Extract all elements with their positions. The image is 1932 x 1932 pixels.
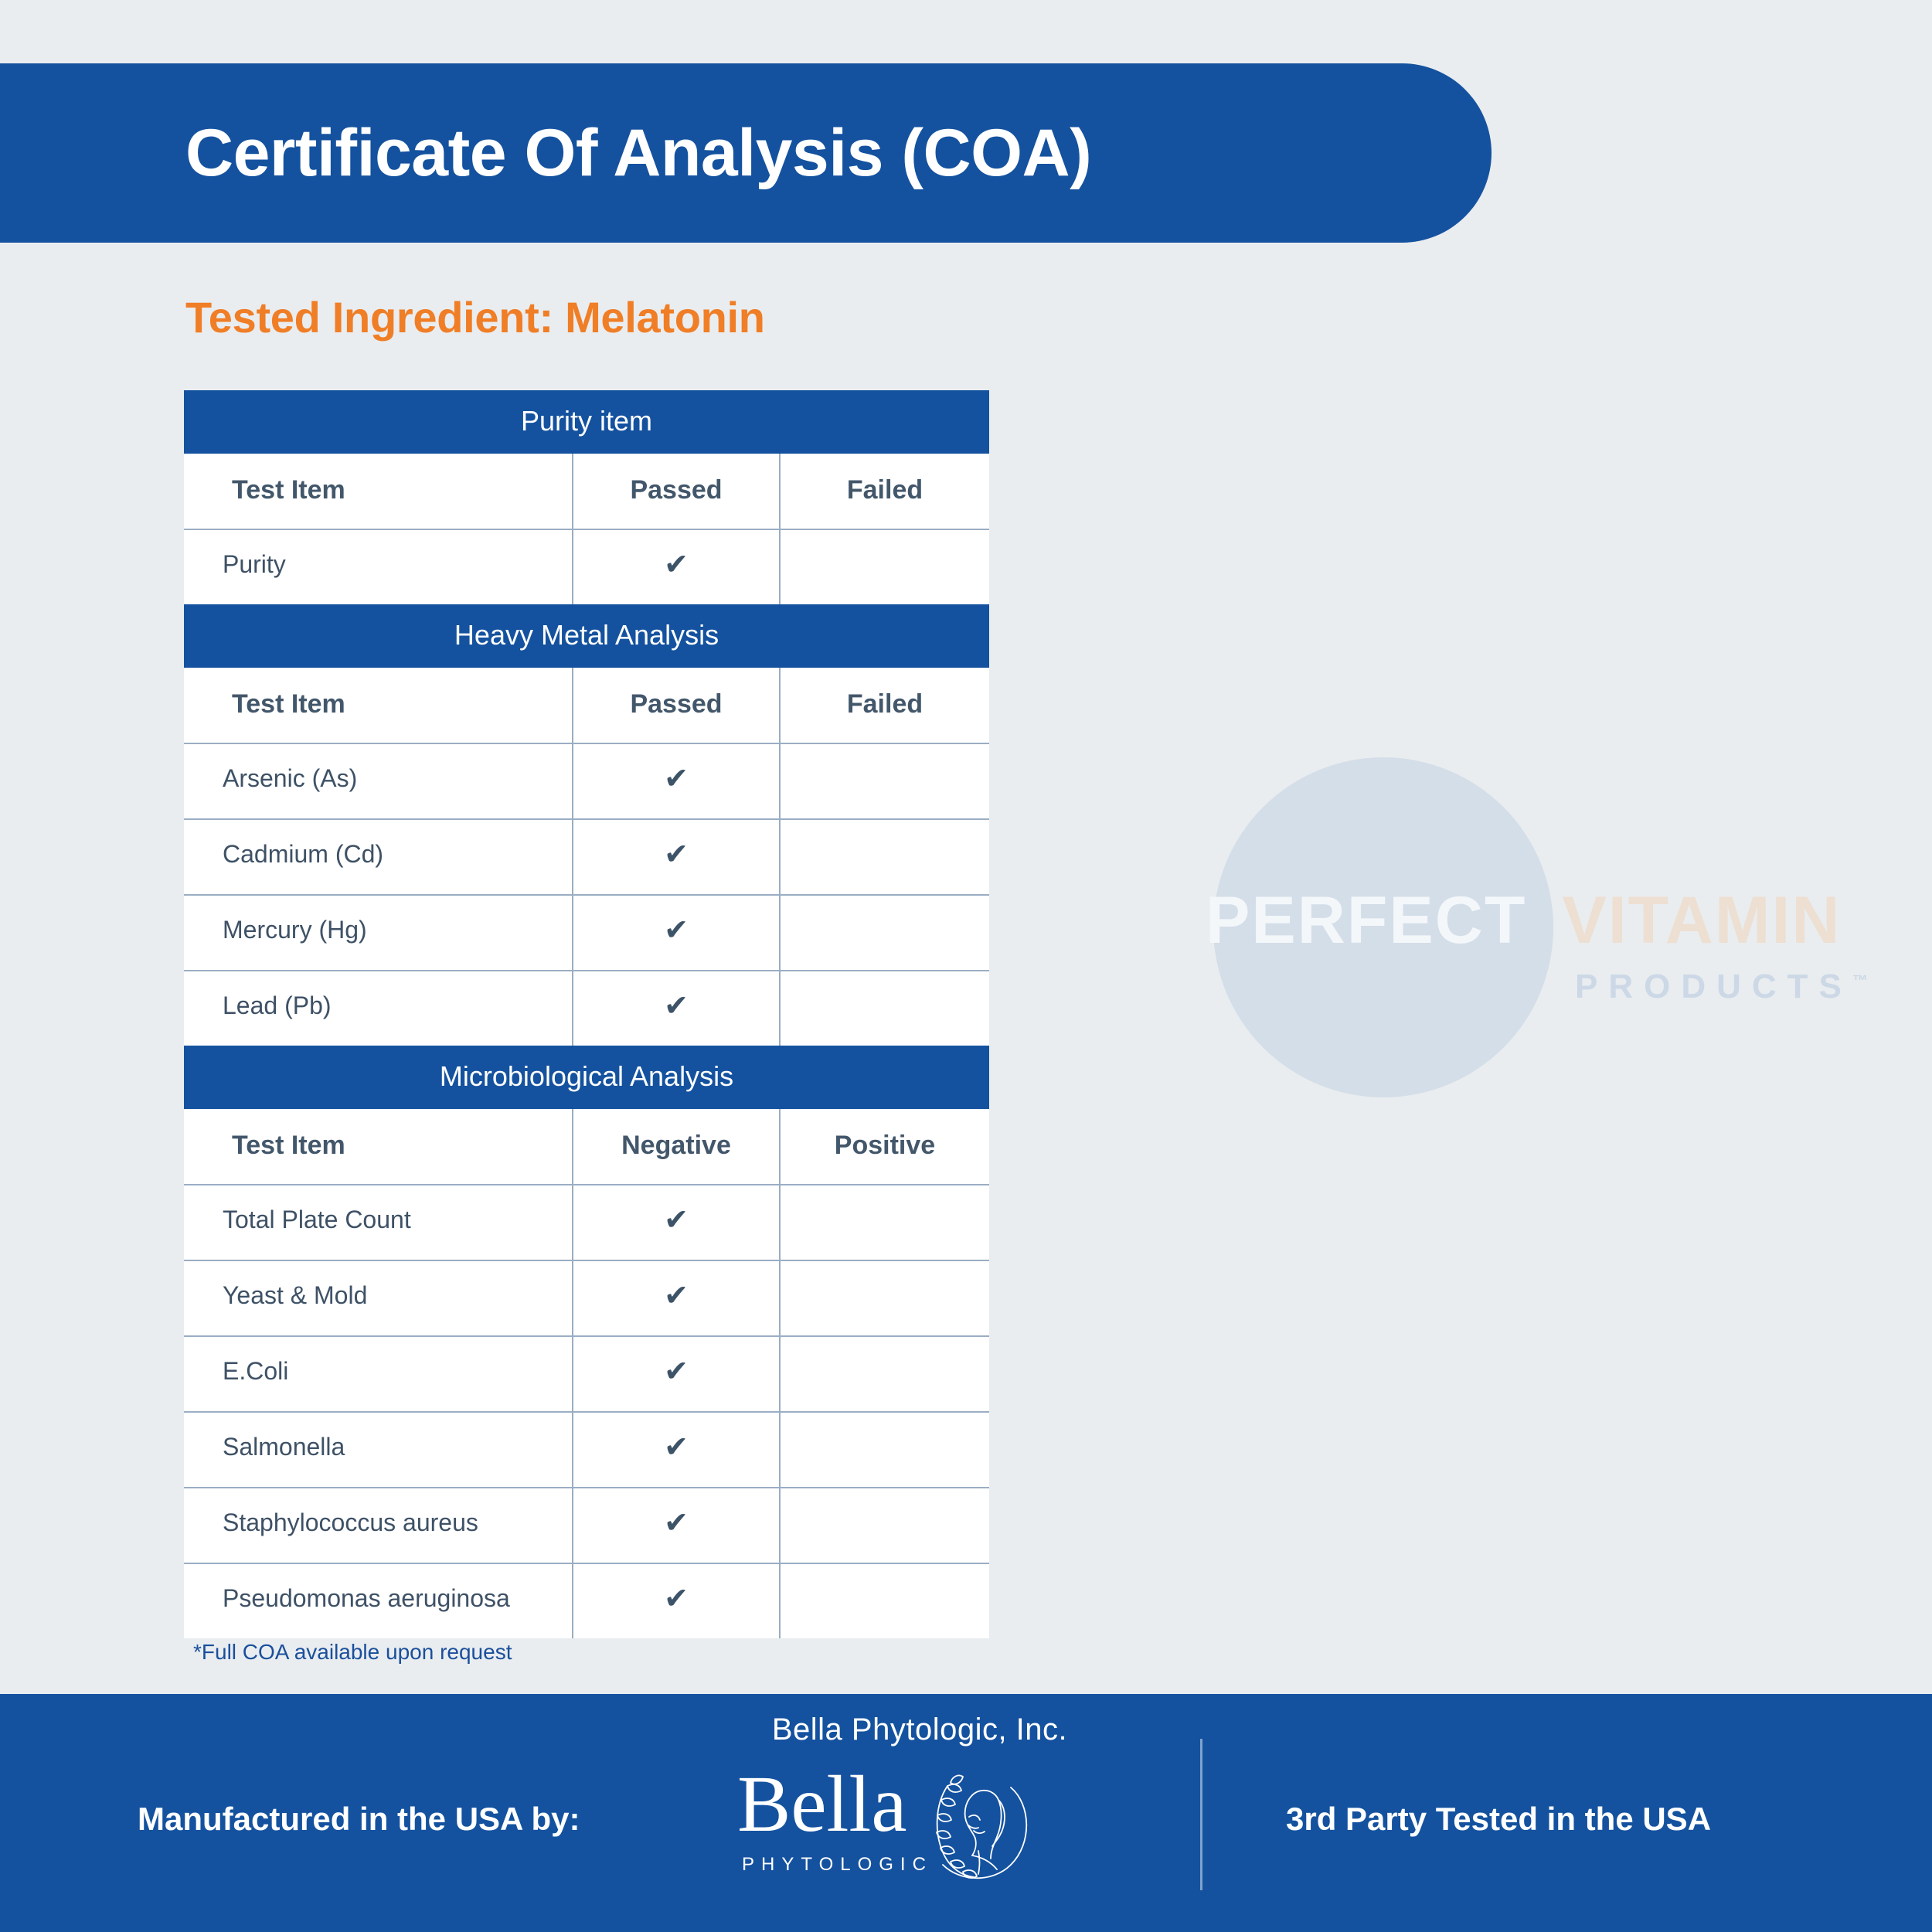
result-positive-cell	[779, 1185, 989, 1260]
column-header-positive: Positive	[779, 1109, 989, 1184]
bella-logo: Bella PHYTOLOGIC	[719, 1758, 1121, 1897]
result-passed-cell: ✔	[572, 896, 779, 970]
table-row: Arsenic (As) ✔	[184, 743, 989, 818]
table-row: Cadmium (Cd) ✔	[184, 818, 989, 894]
column-header-test-item: Test Item	[184, 1109, 572, 1184]
check-icon: ✔	[573, 1509, 779, 1538]
result-negative-cell: ✔	[572, 1488, 779, 1563]
result-negative-cell: ✔	[572, 1564, 779, 1638]
watermark-wordmark: PERFECT VITAMIN	[1206, 883, 1901, 959]
check-icon: ✔	[573, 1433, 779, 1462]
tested-ingredient-label: Tested Ingredient: Melatonin	[185, 292, 765, 342]
check-icon: ✔	[573, 1281, 779, 1311]
woman-with-wreath-icon	[918, 1760, 1049, 1891]
result-passed-cell: ✔	[572, 744, 779, 818]
result-positive-cell	[779, 1488, 989, 1563]
column-header-test-item: Test Item	[184, 454, 572, 529]
section-header-heavy-metal: Heavy Metal Analysis	[184, 604, 989, 668]
watermark-word-products: PRODUCTS™	[1575, 968, 1868, 1006]
result-passed-cell: ✔	[572, 530, 779, 604]
result-failed-cell	[779, 896, 989, 970]
result-negative-cell: ✔	[572, 1337, 779, 1411]
test-item-name: Arsenic (As)	[184, 744, 572, 818]
check-icon: ✔	[573, 992, 779, 1021]
test-item-name: E.Coli	[184, 1337, 572, 1411]
column-header-passed: Passed	[572, 454, 779, 529]
phytologic-subtext: PHYTOLOGIC	[742, 1854, 933, 1876]
result-negative-cell: ✔	[572, 1185, 779, 1260]
result-positive-cell	[779, 1337, 989, 1411]
test-item-name: Staphylococcus aureus	[184, 1488, 572, 1563]
test-item-name: Mercury (Hg)	[184, 896, 572, 970]
table-row: Salmonella ✔	[184, 1411, 989, 1487]
result-positive-cell	[779, 1261, 989, 1335]
test-item-name: Yeast & Mold	[184, 1261, 572, 1335]
result-failed-cell	[779, 820, 989, 894]
check-icon: ✔	[573, 840, 779, 869]
section-header-microbiological: Microbiological Analysis	[184, 1046, 989, 1109]
check-icon: ✔	[573, 1357, 779, 1386]
column-header-negative: Negative	[572, 1109, 779, 1184]
column-header-failed: Failed	[779, 454, 989, 529]
watermark-products-text: PRODUCTS	[1575, 968, 1852, 1005]
result-negative-cell: ✔	[572, 1413, 779, 1487]
check-icon: ✔	[573, 764, 779, 794]
test-item-name: Cadmium (Cd)	[184, 820, 572, 894]
test-item-name: Total Plate Count	[184, 1185, 572, 1260]
footer-vertical-divider	[1200, 1739, 1202, 1890]
column-header-passed: Passed	[572, 668, 779, 743]
result-positive-cell	[779, 1564, 989, 1638]
table-row: Staphylococcus aureus ✔	[184, 1487, 989, 1563]
trademark-icon: ™	[1852, 972, 1868, 989]
company-name: Bella Phytologic, Inc.	[719, 1713, 1121, 1747]
result-failed-cell	[779, 744, 989, 818]
perfect-vitamin-products-watermark: PERFECT VITAMIN PRODUCTS™	[1206, 742, 1901, 1121]
result-positive-cell	[779, 1413, 989, 1487]
check-icon: ✔	[573, 916, 779, 945]
bella-phytologic-brand-block: Bella Phytologic, Inc. Bella PHYTOLOGIC	[719, 1713, 1121, 1897]
watermark-circle-shape	[1213, 757, 1553, 1097]
column-header-row: Test Item Passed Failed	[184, 668, 989, 743]
table-row: Yeast & Mold ✔	[184, 1260, 989, 1335]
table-row: Purity ✔	[184, 529, 989, 604]
section-header-purity: Purity item	[184, 390, 989, 454]
result-passed-cell: ✔	[572, 971, 779, 1046]
column-header-failed: Failed	[779, 668, 989, 743]
column-header-row: Test Item Negative Positive	[184, 1109, 989, 1184]
third-party-tested-label: 3rd Party Tested in the USA	[1286, 1801, 1711, 1838]
test-item-name: Purity	[184, 530, 572, 604]
check-icon: ✔	[573, 1584, 779, 1614]
result-passed-cell: ✔	[572, 820, 779, 894]
check-icon: ✔	[573, 550, 779, 580]
watermark-word-perfect: PERFECT	[1206, 883, 1526, 959]
table-row: Lead (Pb) ✔	[184, 970, 989, 1046]
footer-bar: Manufactured in the USA by: Bella Phytol…	[0, 1694, 1932, 1932]
coa-results-table: Purity item Test Item Passed Failed Puri…	[184, 390, 989, 1638]
table-row: Total Plate Count ✔	[184, 1184, 989, 1260]
table-row: E.Coli ✔	[184, 1335, 989, 1411]
column-header-test-item: Test Item	[184, 668, 572, 743]
result-failed-cell	[779, 530, 989, 604]
result-failed-cell	[779, 971, 989, 1046]
check-icon: ✔	[573, 1206, 779, 1235]
column-header-row: Test Item Passed Failed	[184, 454, 989, 529]
coa-footnote: *Full COA available upon request	[193, 1640, 512, 1665]
result-negative-cell: ✔	[572, 1261, 779, 1335]
manufactured-in-usa-label: Manufactured in the USA by:	[138, 1801, 580, 1838]
bella-wordmark: Bella	[737, 1764, 906, 1845]
test-item-name: Salmonella	[184, 1413, 572, 1487]
watermark-word-vitamin: VITAMIN	[1562, 883, 1841, 959]
test-item-name: Lead (Pb)	[184, 971, 572, 1046]
table-row: Mercury (Hg) ✔	[184, 894, 989, 970]
table-row: Pseudomonas aeruginosa ✔	[184, 1563, 989, 1638]
test-item-name: Pseudomonas aeruginosa	[184, 1564, 572, 1638]
header-banner: Certificate Of Analysis (COA)	[0, 63, 1492, 243]
page-title: Certificate Of Analysis (COA)	[0, 120, 1091, 186]
